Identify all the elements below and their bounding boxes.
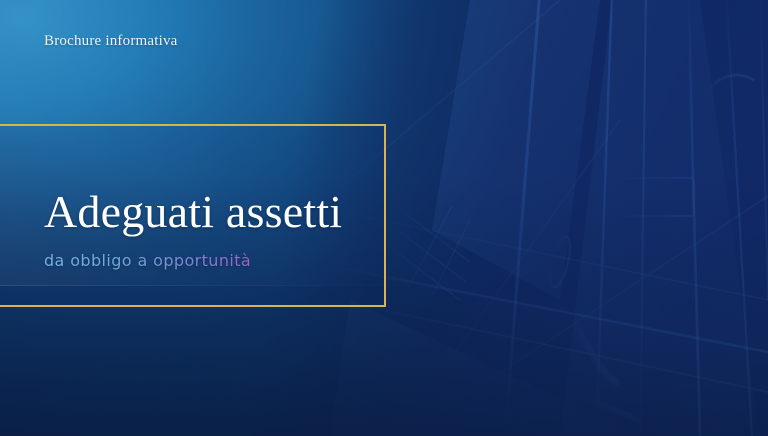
background-band-edge: [0, 285, 410, 286]
presentation-slide: Brochure informativa Adeguati assetti da…: [0, 0, 768, 436]
title-block: Adeguati assetti da obbligo a opportunit…: [44, 186, 524, 270]
slide-subtitle: da obbligo a opportunità: [44, 251, 524, 270]
slide-title: Adeguati assetti: [44, 186, 524, 238]
brochure-label: Brochure informativa: [44, 33, 178, 50]
